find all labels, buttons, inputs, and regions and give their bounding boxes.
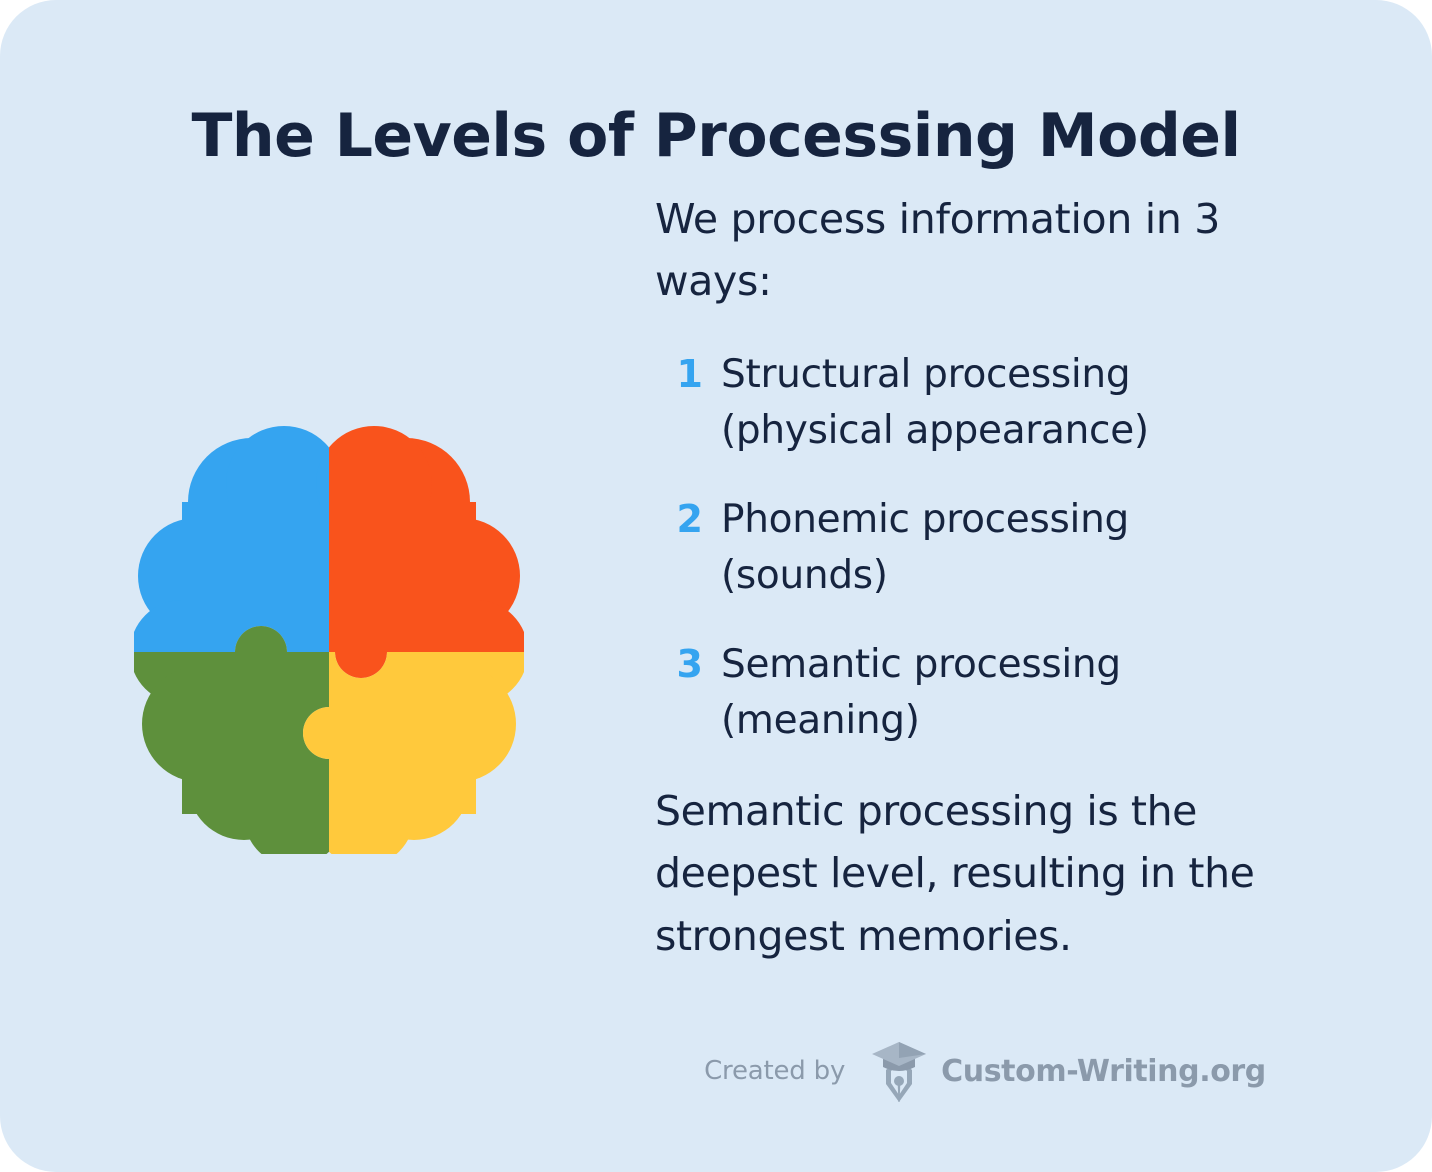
list-item-label: Semantic processing (meaning) xyxy=(721,637,1305,750)
list-item-number: 3 xyxy=(655,637,703,692)
brand-name: Custom-Writing.org xyxy=(941,1054,1266,1089)
list-item: 1 Structural processing (physical appear… xyxy=(655,347,1305,460)
created-by-label: Created by xyxy=(704,1056,845,1086)
page-title: The Levels of Processing Model xyxy=(0,102,1432,171)
content-column: We process information in 3 ways: 1 Stru… xyxy=(655,188,1305,967)
list-item-label: Phonemic processing (sounds) xyxy=(721,492,1305,605)
list-item-number: 1 xyxy=(655,347,703,402)
list-item: 2 Phonemic processing (sounds) xyxy=(655,492,1305,605)
brain-puzzle-illustration xyxy=(134,424,524,854)
footer-credit: Created by Custom-Writing.org xyxy=(655,1040,1315,1102)
processing-levels-list: 1 Structural processing (physical appear… xyxy=(655,347,1305,750)
list-item-label: Structural processing (physical appearan… xyxy=(721,347,1305,460)
intro-text: We process information in 3 ways: xyxy=(655,188,1305,313)
conclusion-text: Semantic processing is the deepest level… xyxy=(655,780,1305,967)
list-item-number: 2 xyxy=(655,492,703,547)
list-item: 3 Semantic processing (meaning) xyxy=(655,637,1305,750)
infographic-card: The Levels of Processing Model xyxy=(0,0,1432,1172)
graduation-cap-pen-nib-icon xyxy=(871,1040,927,1102)
